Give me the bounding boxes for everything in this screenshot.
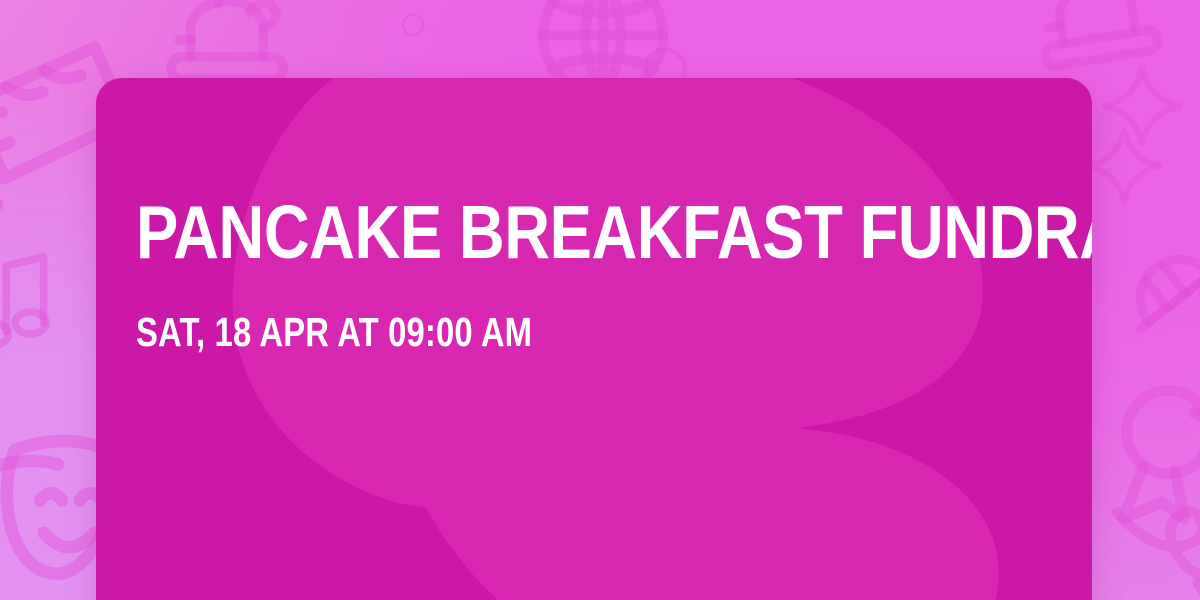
event-poster: Pancake Breakfast Fundraiser Sat, 18 Apr… xyxy=(0,0,1200,600)
event-card[interactable]: Pancake Breakfast Fundraiser Sat, 18 Apr… xyxy=(96,78,1092,600)
music-note-icon xyxy=(0,236,70,366)
ribbon-icon xyxy=(1098,368,1200,528)
event-datetime: Sat, 18 Apr at 09:00 AM xyxy=(136,312,869,353)
cake-icon xyxy=(991,0,1199,86)
event-title: Pancake Breakfast Fundraiser xyxy=(136,196,910,268)
event-card-text: Pancake Breakfast Fundraiser Sat, 18 Apr… xyxy=(136,196,1052,353)
dot-icon xyxy=(396,8,430,42)
swirl-icon xyxy=(1096,470,1200,600)
sparkle-icon xyxy=(1082,124,1166,208)
microphone-icon xyxy=(1080,188,1200,386)
sparkle-icon xyxy=(1098,62,1186,150)
